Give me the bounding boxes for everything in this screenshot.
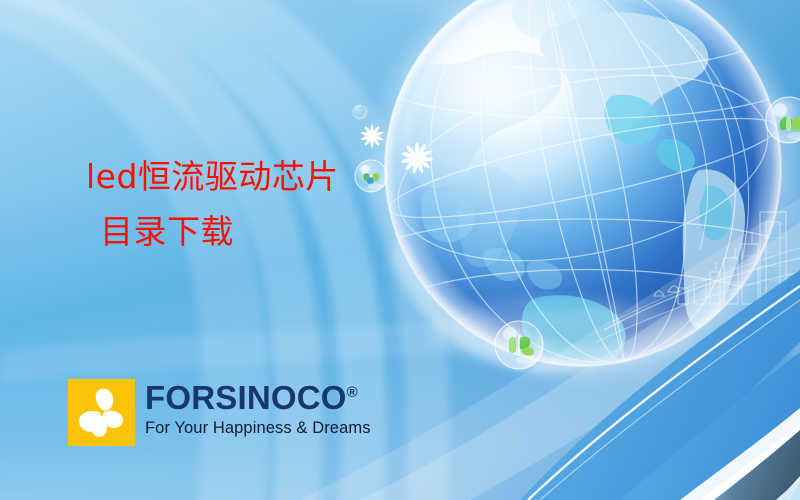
headline-line-2: 目录下载 bbox=[100, 215, 339, 248]
logo-wordmark: FORSINOCO® For Your Happiness & Dreams bbox=[145, 381, 371, 437]
logo-mark-icon bbox=[68, 379, 135, 446]
logo-company-name: FORSINOCO® bbox=[145, 381, 371, 414]
logo-tagline: For Your Happiness & Dreams bbox=[145, 420, 371, 437]
headline-text: led恒流驱动芯片 目录下载 bbox=[86, 160, 339, 248]
slide-canvas: led恒流驱动芯片 目录下载 FORSINOCO® For Your Happi… bbox=[0, 0, 800, 500]
logo-company-name-text: FORSINOCO bbox=[145, 379, 347, 416]
brand-logo: FORSINOCO® For Your Happiness & Dreams bbox=[68, 379, 371, 446]
bubble-small bbox=[353, 105, 367, 119]
registered-trademark-icon: ® bbox=[347, 384, 358, 401]
bubble-pinwheel bbox=[355, 160, 387, 192]
headline-line-1: led恒流驱动芯片 bbox=[86, 160, 339, 193]
